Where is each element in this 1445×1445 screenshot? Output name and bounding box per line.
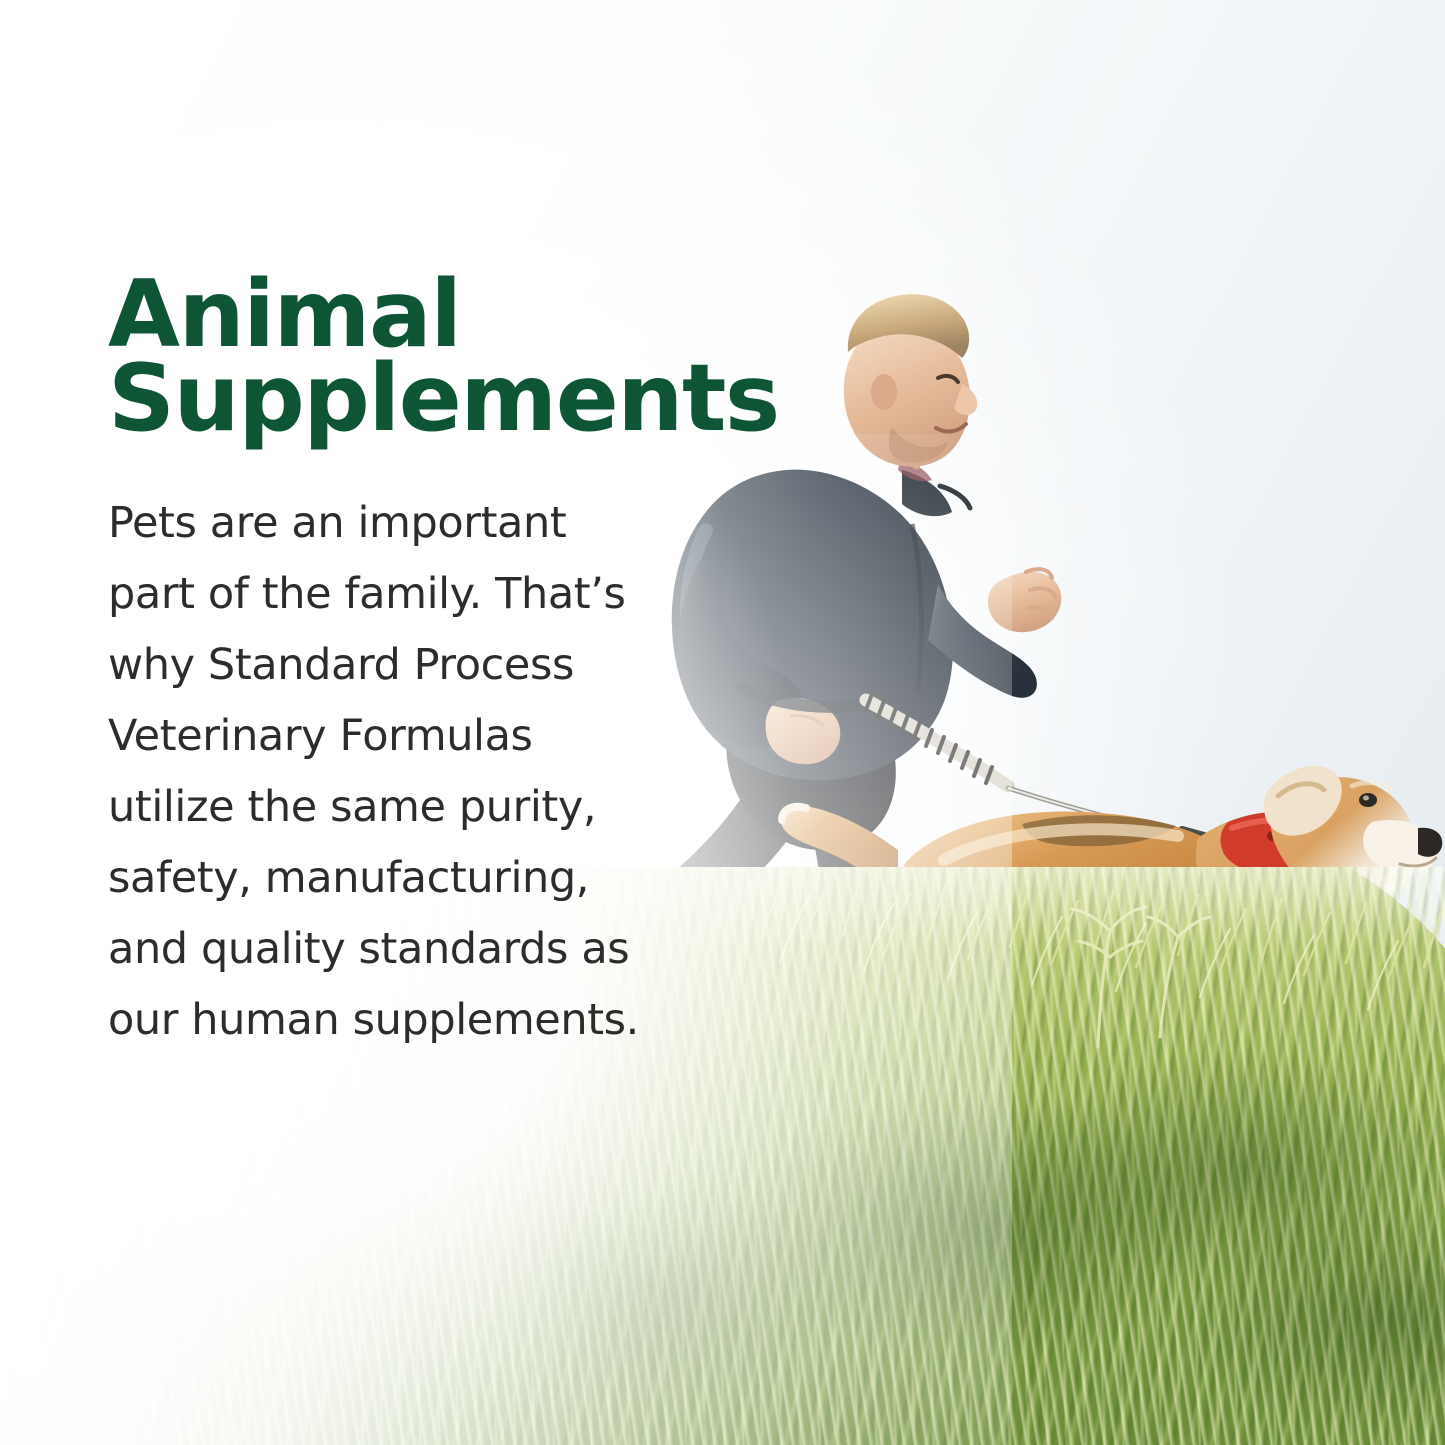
marketing-banner: Animal Supplements Pets are an important… [0, 0, 1445, 1445]
text-block: Animal Supplements Pets are an important… [108, 272, 688, 1056]
description-paragraph: Pets are an important part of the family… [108, 440, 688, 1056]
page-title: Animal Supplements [108, 272, 688, 440]
